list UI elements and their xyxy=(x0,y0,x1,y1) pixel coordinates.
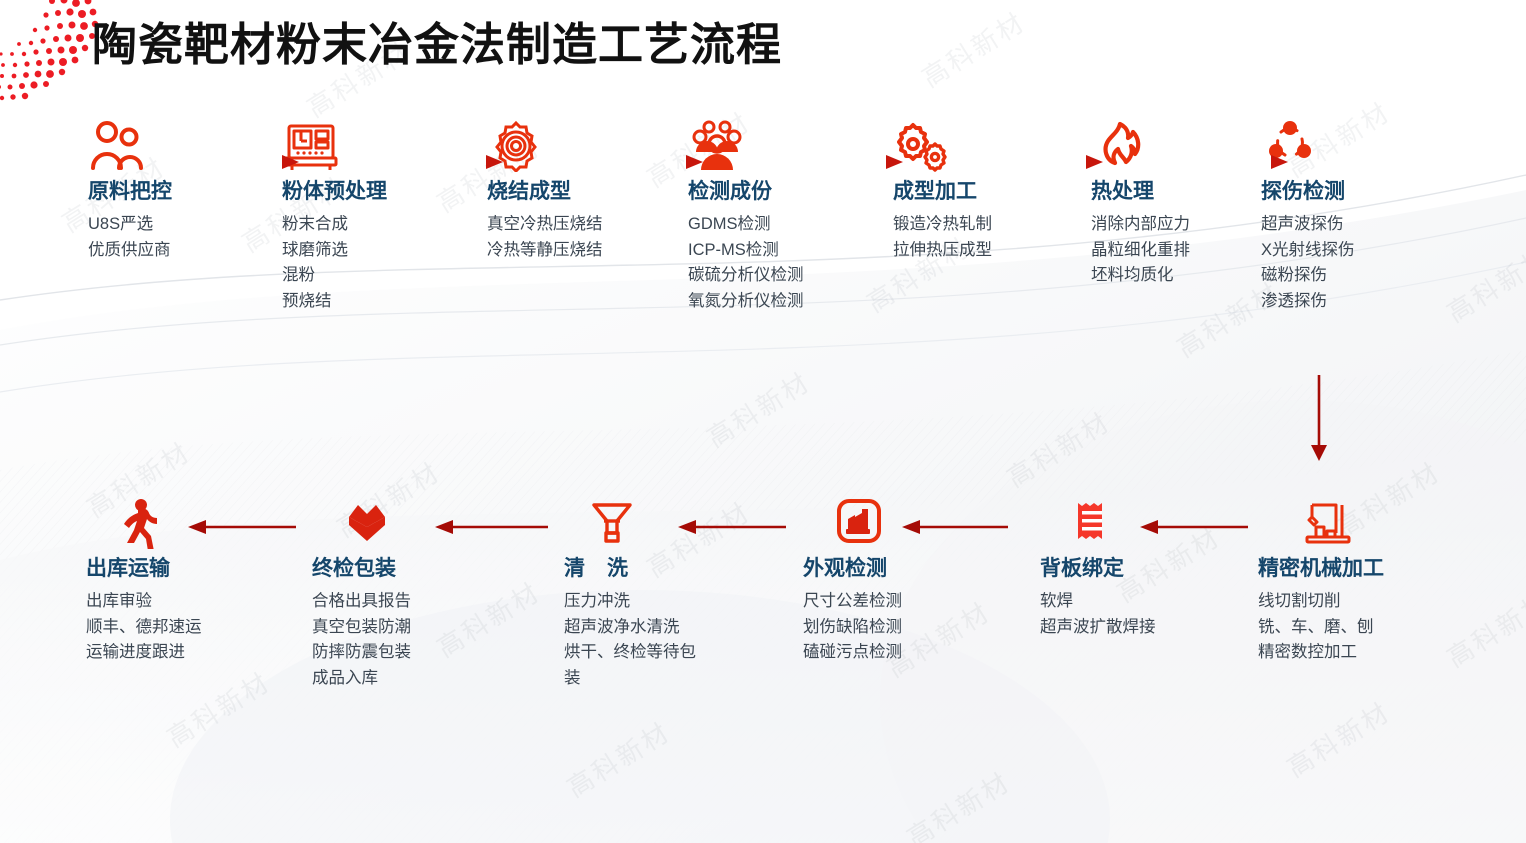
detail-line: 成品入库 xyxy=(312,666,492,692)
detail-line: 出库审验 xyxy=(86,589,261,615)
flow-arrow-right xyxy=(800,153,905,171)
watermark: 高科新材 xyxy=(914,2,1032,95)
watermark: 高科新材 xyxy=(999,402,1117,495)
flow-step-composition-testing[interactable]: 检测成份 GDMS检测 ICP-MS检测 碳硫分析仪检测 氧氮分析仪检测 xyxy=(688,118,893,314)
detail-line: 真空包装防潮 xyxy=(312,615,492,641)
detail-line: U8S严选 xyxy=(88,212,268,238)
step-title: 检测成份 xyxy=(688,180,893,203)
detail-line: 锻造冷热轧制 xyxy=(893,212,1083,238)
step-title: 背板绑定 xyxy=(1040,557,1220,580)
flow-step-backplate-bonding[interactable]: 背板绑定 软焊 超声波扩散焊接 xyxy=(1040,495,1220,640)
step-detail-lines: 软焊 超声波扩散焊接 xyxy=(1040,589,1220,640)
watermark: 高科新材 xyxy=(1439,237,1526,330)
cnc-machine-icon xyxy=(1258,495,1473,551)
detail-line: 磕碰污点检测 xyxy=(803,640,983,666)
step-title: 热处理 xyxy=(1091,180,1261,203)
detail-line: 坯料均质化 xyxy=(1091,263,1261,289)
step-detail-lines: 消除内部应力 晶粒细化重排 坯料均质化 xyxy=(1091,212,1261,289)
step-title: 终检包装 xyxy=(312,557,492,580)
flow-step-heat-treatment[interactable]: 热处理 消除内部应力 晶粒细化重排 坯料均质化 xyxy=(1091,118,1261,289)
flow-arrow-right xyxy=(1185,153,1290,171)
detail-line: 氧氮分析仪检测 xyxy=(688,289,893,315)
detail-line: 超声波探伤 xyxy=(1261,212,1436,238)
detail-line: 冷热等静压烧结 xyxy=(487,238,687,264)
step-detail-lines: 尺寸公差检测 划伤缺陷检测 磕碰污点检测 xyxy=(803,589,983,666)
step-title: 烧结成型 xyxy=(487,180,687,203)
detail-line: 防摔防震包装 xyxy=(312,640,492,666)
step-title: 成型加工 xyxy=(893,180,1083,203)
watermark: 高科新材 xyxy=(1279,692,1397,785)
detail-line: 铣、车、磨、刨 xyxy=(1258,615,1473,641)
detail-line: 碳硫分析仪检测 xyxy=(688,263,893,289)
flow-arrow-right xyxy=(400,153,505,171)
flow-arrow-left xyxy=(186,518,296,536)
detail-line: 磁粉探伤 xyxy=(1261,263,1436,289)
flow-arrow-left xyxy=(900,518,1008,536)
flow-arrow-left xyxy=(433,518,548,536)
detail-line: 超声波净水清洗 xyxy=(564,615,704,641)
step-title: 原料把控 xyxy=(88,180,268,203)
detail-line: 尺寸公差检测 xyxy=(803,589,983,615)
step-title: 粉体预处理 xyxy=(282,180,472,203)
watermark: 高科新材 xyxy=(159,662,277,755)
detail-line: 烘干、终检等待包装 xyxy=(564,640,704,691)
detail-line: 合格出具报告 xyxy=(312,589,492,615)
watermark: 高科新材 xyxy=(899,762,1017,843)
flow-arrow-right xyxy=(1000,153,1105,171)
step-title: 精密机械加工 xyxy=(1258,557,1473,580)
flow-step-raw-material-control[interactable]: 原料把控 U8S严选 优质供应商 xyxy=(88,118,268,263)
detail-line: 球磨筛选 xyxy=(282,238,472,264)
step-detail-lines: 线切割切削 铣、车、磨、刨 精密数控加工 xyxy=(1258,589,1473,666)
detail-line: 划伤缺陷检测 xyxy=(803,615,983,641)
detail-line: 渗透探伤 xyxy=(1261,289,1436,315)
detail-line: ICP-MS检测 xyxy=(688,238,893,264)
step-detail-lines: 真空冷热压烧结 冷热等静压烧结 xyxy=(487,212,687,263)
detail-line: 软焊 xyxy=(1040,589,1220,615)
step-detail-lines: 合格出具报告 真空包装防潮 防摔防震包装 成品入库 xyxy=(312,589,492,691)
step-title: 出库运输 xyxy=(86,557,261,580)
detail-line: 预烧结 xyxy=(282,289,472,315)
detail-line: 混粉 xyxy=(282,263,472,289)
detail-line: GDMS检测 xyxy=(688,212,893,238)
detail-line: 顺丰、德邦速运 xyxy=(86,615,261,641)
detail-line: 精密数控加工 xyxy=(1258,640,1473,666)
flow-arrow-right xyxy=(196,153,301,171)
flow-arrow-right xyxy=(600,153,705,171)
detail-line: 消除内部应力 xyxy=(1091,212,1261,238)
flow-arrow-left xyxy=(676,518,786,536)
step-title: 清洗 xyxy=(564,557,729,580)
watermark: 高科新材 xyxy=(559,712,677,805)
step-detail-lines: GDMS检测 ICP-MS检测 碳硫分析仪检测 氧氮分析仪检测 xyxy=(688,212,893,314)
detail-line: 晶粒细化重排 xyxy=(1091,238,1261,264)
step-detail-lines: 压力冲洗 超声波净水清洗 烘干、终检等待包装 xyxy=(564,589,704,691)
step-title: 外观检测 xyxy=(803,557,983,580)
detail-line: 线切割切削 xyxy=(1258,589,1473,615)
detail-line: 拉伸热压成型 xyxy=(893,238,1083,264)
flow-arrow-left xyxy=(1138,518,1248,536)
step-detail-lines: 出库审验 顺丰、德邦速运 运输进度跟进 xyxy=(86,589,261,666)
flow-step-forming-processing[interactable]: 成型加工 锻造冷热轧制 拉伸热压成型 xyxy=(893,118,1083,263)
flow-step-flaw-detection[interactable]: 探伤检测 超声波探伤 X光射线探伤 磁粉探伤 渗透探伤 xyxy=(1261,118,1436,314)
flow-step-powder-pretreatment[interactable]: 粉体预处理 粉末合成 球磨筛选 混粉 预烧结 xyxy=(282,118,472,314)
detail-line: 真空冷热压烧结 xyxy=(487,212,687,238)
step-title: 探伤检测 xyxy=(1261,180,1436,203)
page-title: 陶瓷靶材粉末冶金法制造工艺流程 xyxy=(92,8,782,73)
down-connector-arrow xyxy=(1305,375,1333,463)
step-detail-lines: 粉末合成 球磨筛选 混粉 预烧结 xyxy=(282,212,472,314)
step-detail-lines: 锻造冷热轧制 拉伸热压成型 xyxy=(893,212,1083,263)
detail-line: 优质供应商 xyxy=(88,238,268,264)
detail-line: 运输进度跟进 xyxy=(86,640,261,666)
watermark: 高科新材 xyxy=(699,362,817,455)
detail-line: 压力冲洗 xyxy=(564,589,704,615)
step-detail-lines: U8S严选 优质供应商 xyxy=(88,212,268,263)
flow-step-precision-machining[interactable]: 精密机械加工 线切割切削 铣、车、磨、刨 精密数控加工 xyxy=(1258,495,1473,666)
detail-line: 粉末合成 xyxy=(282,212,472,238)
flow-step-sintering-forming[interactable]: 烧结成型 真空冷热压烧结 冷热等静压烧结 xyxy=(487,118,687,263)
detail-line: X光射线探伤 xyxy=(1261,238,1436,264)
step-detail-lines: 超声波探伤 X光射线探伤 磁粉探伤 渗透探伤 xyxy=(1261,212,1436,314)
detail-line: 超声波扩散焊接 xyxy=(1040,615,1220,641)
